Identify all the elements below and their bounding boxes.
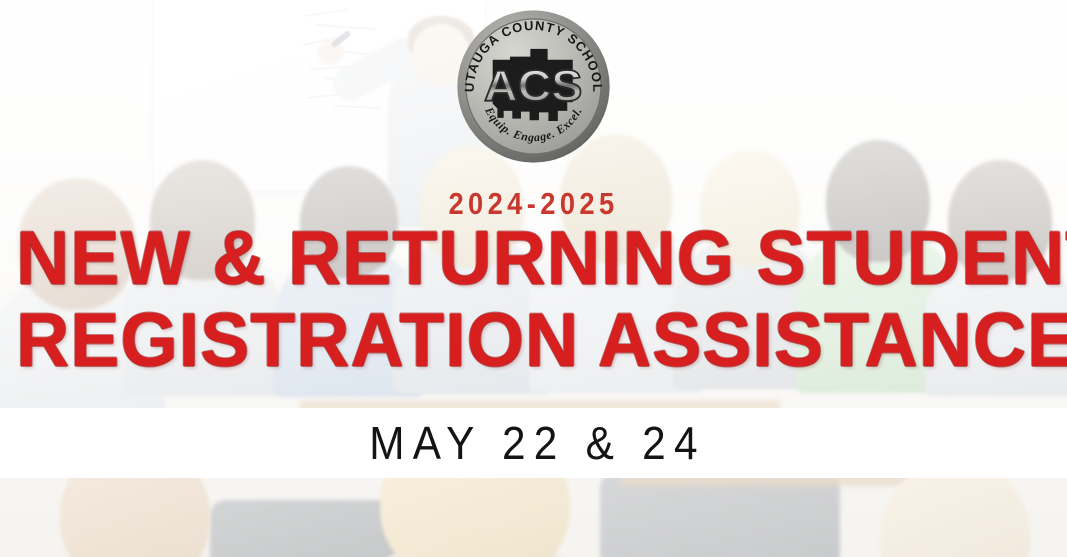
headline-line-1: NEW & RETURNING STUDENT xyxy=(16,218,1051,300)
headline-block: NEW & RETURNING STUDENT REGISTRATION ASS… xyxy=(0,218,1067,382)
acs-logo: ACS AUTAUGA COUNTY SCHOOLS Equip. Engage… xyxy=(455,8,612,165)
seal-icon: ACS AUTAUGA COUNTY SCHOOLS Equip. Engage… xyxy=(455,8,612,165)
date-band: MAY 22 & 24 xyxy=(0,408,1067,478)
acs-monogram: ACS xyxy=(484,61,582,110)
flyer-canvas: ACS AUTAUGA COUNTY SCHOOLS Equip. Engage… xyxy=(0,0,1067,557)
event-dates: MAY 22 & 24 xyxy=(361,416,706,470)
flyer-content: ACS AUTAUGA COUNTY SCHOOLS Equip. Engage… xyxy=(0,0,1067,557)
headline-line-2: REGISTRATION ASSISTANCE xyxy=(16,300,1051,382)
